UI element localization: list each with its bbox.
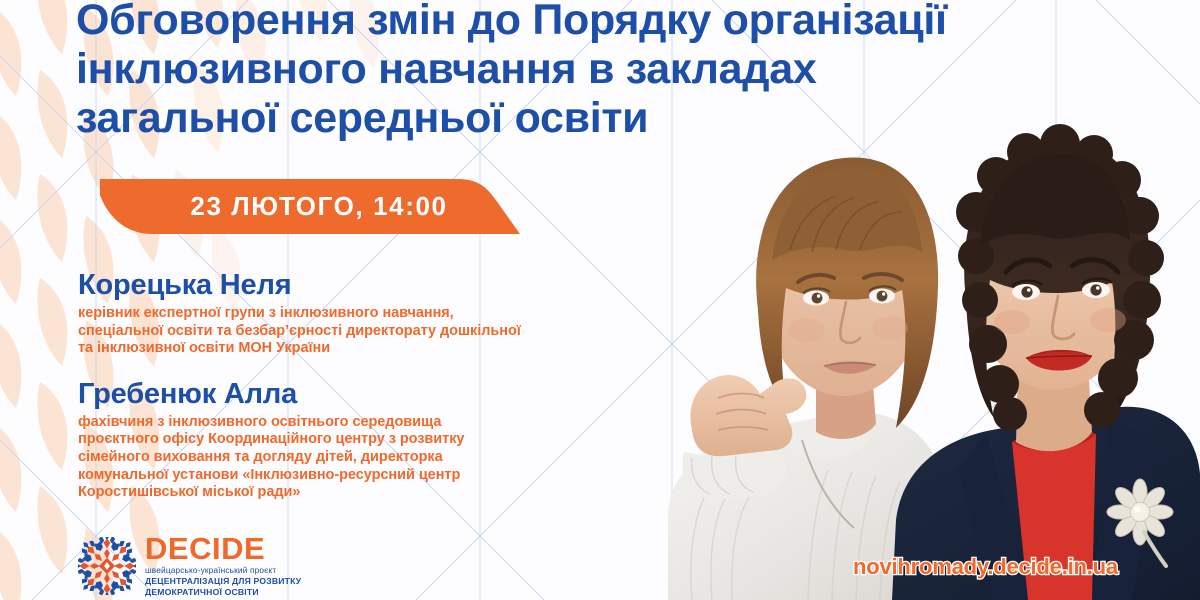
date-badge-label: 23 ЛЮТОГО, 14:00 — [96, 179, 528, 234]
speaker-description-line: та інклюзивної освіти МОН України — [78, 340, 638, 358]
speaker-description-line: фахівчиня з інклюзивного освітнього сере… — [78, 414, 638, 432]
title-line-3: загальної середньої освіти — [76, 94, 1156, 143]
speaker-name: Гребенюк Алла — [78, 377, 638, 411]
speaker-description-line: комунальної установи «Інклюзивно-ресурсн… — [78, 467, 638, 485]
speaker-description-line: керівник експертної групи з інклюзивного… — [78, 305, 638, 323]
title-line-2: інклюзивного навчання в закладах — [76, 45, 1156, 94]
title-line-1: Обговорення змін до Порядку організації — [76, 0, 1156, 45]
website-url[interactable]: novihromady.decide.in.ua — [853, 554, 1118, 580]
speaker-description-line: проєктного офісу Координаційного центру … — [78, 431, 638, 449]
speaker-description-line: Коростишівської міської ради» — [78, 484, 638, 502]
webinar-announcement-poster: Обговорення змін до Порядку організації … — [0, 0, 1200, 600]
speaker-name: Корецька Неля — [78, 268, 638, 302]
decide-tagline-2: ДЕЦЕНТРАЛІЗАЦІЯ ДЛЯ РОЗВИТКУ — [145, 576, 301, 587]
speaker-list: Корецька Неля керівник експертної групи … — [78, 268, 638, 502]
speaker-block-2: Гребенюк Алла фахівчиня з інклюзивного о… — [78, 377, 638, 502]
poster-title: Обговорення змін до Порядку організації … — [76, 0, 1156, 143]
decide-tagline-3: ДЕМОКРАТИЧНОЇ ОСВІТИ — [145, 587, 301, 598]
decide-logo-text: DECIDE швейцарсько-український проєкт ДЕ… — [145, 534, 301, 597]
decide-logo: DECIDE швейцарсько-український проєкт ДЕ… — [78, 534, 301, 597]
speaker-block-1: Корецька Неля керівник експертної групи … — [78, 268, 638, 358]
decide-star-emblem-icon — [78, 537, 136, 595]
speaker-description-line: спеціальної освіти та безбар’єрності дир… — [78, 323, 638, 341]
decide-tagline-1: швейцарсько-український проєкт — [145, 565, 301, 576]
speaker-description-line: сімейного виховання та догляду дітей, ди… — [78, 449, 638, 467]
portrait-right — [892, 124, 1200, 600]
decide-wordmark: DECIDE — [145, 534, 301, 564]
date-badge: 23 ЛЮТОГО, 14:00 — [96, 179, 528, 234]
